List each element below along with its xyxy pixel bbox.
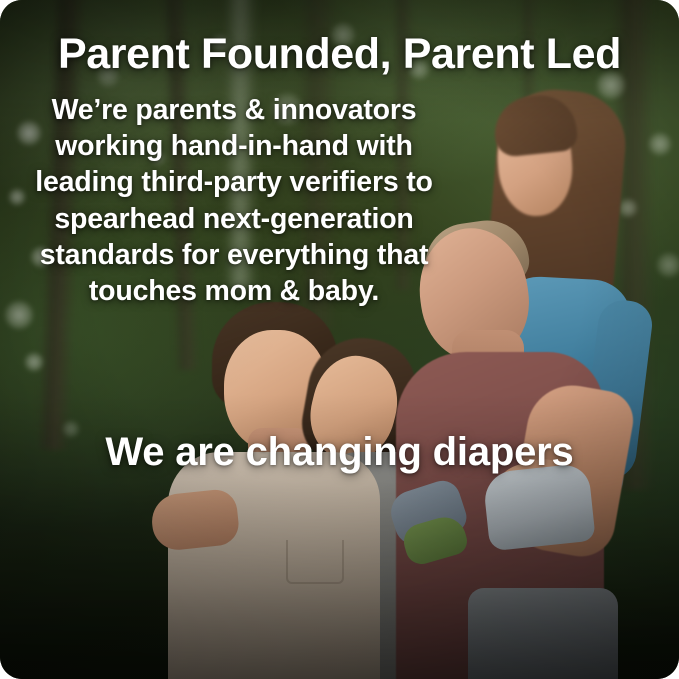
certification-badges: EWG VERIFIED FOR YOUR HEALTH · EWG.ORG ® (0, 490, 679, 645)
lifestyle-ad-card: Parent Founded, Parent Led We’re parents… (0, 0, 679, 679)
tagline: We are changing diapers (0, 430, 679, 474)
body-copy: We’re parents & innovators working hand-… (24, 92, 444, 309)
headline: Parent Founded, Parent Led (0, 32, 679, 77)
